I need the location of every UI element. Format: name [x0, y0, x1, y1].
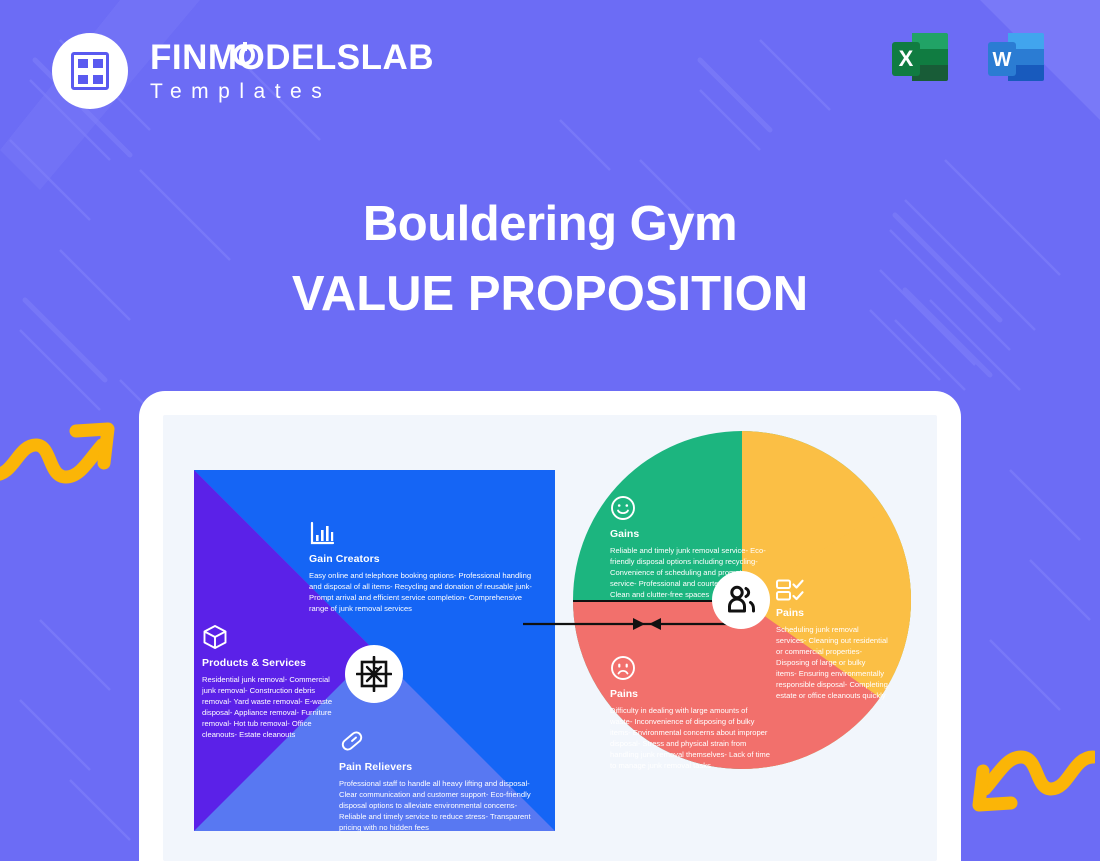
- excel-icon: X: [888, 29, 952, 93]
- smiley-happy-icon: [610, 495, 636, 521]
- bar-chart-icon: [309, 520, 335, 546]
- brand-mark-circle: [52, 33, 128, 109]
- squiggle-arrow-down-left-icon: [965, 745, 1095, 830]
- page-header: FINMODELSLAB Templates X W: [0, 0, 1100, 150]
- customer-jobs-title: Pains: [776, 607, 888, 619]
- pains-title: Pains: [610, 688, 770, 700]
- word-icon: W: [984, 29, 1048, 93]
- svg-text:X: X: [899, 46, 914, 71]
- products-services-body: Residential junk removal- Commercial jun…: [202, 674, 334, 740]
- pain-relievers-block: Pain Relievers Professional staff to han…: [339, 728, 539, 831]
- gain-creators-body: Easy online and telephone booking option…: [309, 570, 537, 614]
- page-title-subject: Bouldering Gym: [0, 196, 1100, 252]
- power-symbol-icon: [233, 44, 255, 66]
- customer-jobs-body: Scheduling junk removal services- Cleani…: [776, 624, 888, 702]
- pains-body: Difficulty in dealing with large amounts…: [610, 705, 770, 771]
- gains-title: Gains: [610, 528, 770, 540]
- gain-creators-title: Gain Creators: [309, 553, 537, 565]
- svg-text:W: W: [993, 49, 1012, 71]
- brand-tagline: Templates: [150, 81, 434, 102]
- box-icon: [202, 624, 228, 650]
- brand-name-text: FINMODELSLAB: [150, 38, 434, 77]
- office-format-icons: X W: [888, 29, 1048, 93]
- checklist-icon: [776, 579, 806, 601]
- squiggle-arrow-up-right-icon: [0, 405, 122, 490]
- laptop-screen: Gain Creators Easy online and telephone …: [163, 415, 937, 861]
- customer-profile-circle[interactable]: Gains Reliable and timely junk removal s…: [573, 431, 911, 769]
- grid-squares-icon: [71, 52, 109, 90]
- pain-relievers-title: Pain Relievers: [339, 761, 539, 773]
- brand-logo: FINMODELSLAB Templates: [52, 33, 434, 109]
- pains-block: Pains Difficulty in dealing with large a…: [610, 655, 770, 771]
- customer-profile-center-badge[interactable]: [712, 571, 770, 629]
- page-title-main: VALUE PROPOSITION: [0, 266, 1100, 322]
- value-proposition-square[interactable]: Gain Creators Easy online and telephone …: [194, 470, 555, 831]
- laptop-mockup: Gain Creators Easy online and telephone …: [139, 391, 961, 861]
- products-services-title: Products & Services: [202, 657, 334, 669]
- gain-creators-block: Gain Creators Easy online and telephone …: [309, 520, 537, 614]
- double-headed-arrow-icon: [523, 617, 738, 631]
- customer-people-icon: [723, 582, 759, 618]
- customer-jobs-block: Pains Scheduling junk removal services- …: [776, 579, 888, 702]
- page-title-block: Bouldering Gym VALUE PROPOSITION: [0, 196, 1100, 323]
- pill-icon: [339, 728, 365, 754]
- products-services-block: Products & Services Residential junk rem…: [202, 624, 334, 740]
- smiley-sad-icon: [610, 655, 636, 681]
- brand-name: FINMODELSLAB: [150, 40, 434, 75]
- pain-relievers-body: Professional staff to handle all heavy l…: [339, 778, 539, 831]
- value-proposition-center-badge[interactable]: [345, 645, 403, 703]
- gift-box-icon: [356, 656, 392, 692]
